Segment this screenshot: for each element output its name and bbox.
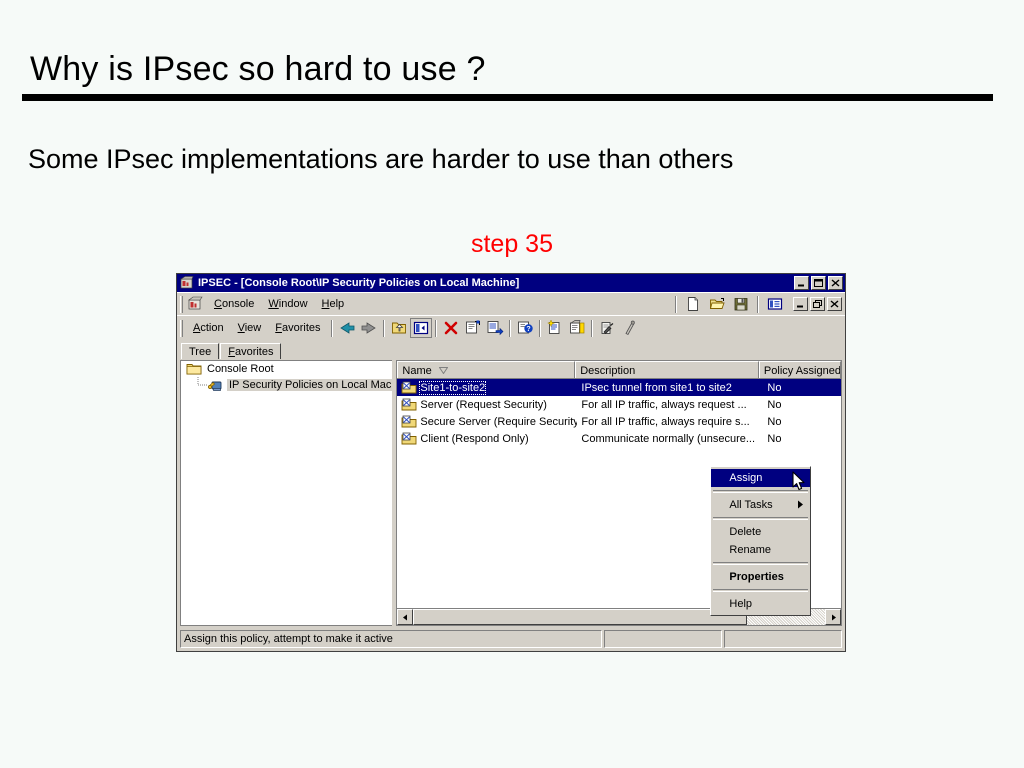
export-list-icon[interactable] — [484, 318, 506, 338]
sort-ascending-icon — [439, 365, 448, 377]
toolbar-sep-d — [509, 320, 511, 337]
cell-policy-assigned: No — [763, 433, 841, 445]
mdi-caption-buttons — [793, 297, 842, 311]
manage-lists-icon[interactable] — [566, 318, 588, 338]
cell-name-text: Site1-to-site2 — [420, 382, 485, 394]
console-small-icon — [187, 296, 203, 312]
mdi-restore-button[interactable] — [810, 297, 825, 311]
chevron-right-icon — [797, 500, 804, 511]
console-toolbar — [672, 294, 845, 314]
context-menu-item-help[interactable]: Help — [711, 595, 810, 613]
cell-name-text: Client (Respond Only) — [420, 433, 528, 445]
context-menu-separator — [713, 517, 808, 520]
scroll-right-icon[interactable] — [825, 609, 841, 625]
toolbar-sep-b — [383, 320, 385, 337]
cell-name: Client (Respond Only) — [397, 431, 577, 447]
menu-window[interactable]: Window — [261, 296, 314, 312]
tree-node-ipsec-policies[interactable]: IP Security Policies on Local Machine — [181, 377, 392, 393]
table-row[interactable]: Secure Server (Require Security) For all… — [397, 413, 841, 430]
properties-icon[interactable] — [462, 318, 484, 338]
action-toolbar: Action View Favorites — [177, 315, 845, 340]
toolbar-sep-c — [435, 320, 437, 337]
menu-help[interactable]: Help — [315, 296, 352, 312]
mmc-console-icon — [180, 276, 194, 290]
toolbar-separator-2 — [757, 296, 759, 313]
cell-name-text: Secure Server (Require Security) — [420, 416, 577, 428]
menu-view[interactable]: View — [231, 320, 269, 336]
ipsec-policy-icon — [401, 380, 417, 396]
context-menu-item-delete[interactable]: Delete — [711, 523, 810, 541]
scrollbar-thumb[interactable] — [413, 609, 746, 625]
cell-name-text: Server (Request Security) — [420, 399, 547, 411]
slide-subtitle: Some IPsec implementations are harder to… — [28, 144, 733, 175]
cell-description: For all IP traffic, always request ... — [577, 399, 763, 411]
window-caption-buttons — [794, 276, 843, 290]
status-cell-3 — [724, 630, 842, 648]
policy-check-icon[interactable] — [596, 318, 618, 338]
menu-action[interactable]: Action — [186, 320, 231, 336]
console-panes: Console Root IP Security Policies — [180, 360, 842, 626]
ipsec-policy-icon — [401, 397, 417, 413]
column-label: Policy Assigned — [764, 365, 841, 377]
cell-description: IPsec tunnel from site1 to site2 — [577, 382, 763, 394]
toolbar-grip[interactable] — [180, 320, 183, 337]
mmc-console-window: IPSEC - [Console Root\IP Security Polici… — [176, 273, 846, 652]
context-menu-separator — [713, 589, 808, 592]
cell-policy-assigned: No — [763, 399, 841, 411]
table-row[interactable]: Server (Request Security) For all IP tra… — [397, 396, 841, 413]
cell-name: Server (Request Security) — [397, 397, 577, 413]
policy-list-pane[interactable]: Name Description Policy Assigned — [396, 360, 842, 626]
svg-text:?: ? — [526, 326, 530, 333]
open-folder-icon[interactable] — [706, 294, 728, 314]
restore-defaults-icon[interactable] — [618, 318, 640, 338]
column-label: Name — [402, 365, 431, 377]
forward-arrow-icon[interactable] — [358, 318, 380, 338]
page-title: Why is IPsec so hard to use ? — [30, 50, 486, 89]
status-bar: Assign this policy, attempt to make it a… — [180, 630, 842, 648]
tree-connector-icon — [197, 377, 208, 393]
list-header: Name Description Policy Assigned — [397, 361, 841, 379]
close-button[interactable] — [828, 276, 843, 290]
mdi-close-button[interactable] — [827, 297, 842, 311]
cell-policy-assigned: No — [763, 416, 841, 428]
status-message: Assign this policy, attempt to make it a… — [180, 630, 602, 648]
pane-tabs: Tree Favorites — [177, 340, 845, 359]
ipsec-policy-icon — [401, 431, 417, 447]
column-header-description[interactable]: Description — [575, 361, 759, 378]
toolbar-sep-e — [539, 320, 541, 337]
tree-node-label: Console Root — [205, 363, 276, 375]
cell-name: Site1-to-site2 — [397, 380, 577, 396]
menu-console[interactable]: Console — [207, 296, 261, 312]
cell-description: For all IP traffic, always require s... — [577, 416, 763, 428]
console-tree-pane[interactable]: Console Root IP Security Policies — [180, 360, 392, 626]
help-question-icon[interactable]: ? — [514, 318, 536, 338]
back-arrow-icon[interactable] — [336, 318, 358, 338]
tree-node-console-root[interactable]: Console Root — [181, 361, 392, 377]
column-header-policy-assigned[interactable]: Policy Assigned — [759, 361, 841, 378]
title-divider — [22, 94, 993, 101]
context-menu-item-all-tasks[interactable]: All Tasks — [711, 496, 810, 514]
tree-node-label: IP Security Policies on Local Machine — [227, 379, 392, 391]
new-policy-icon[interactable] — [544, 318, 566, 338]
toolbar-sep-f — [591, 320, 593, 337]
column-label: Description — [580, 365, 635, 377]
red-x-icon[interactable] — [440, 318, 462, 338]
cell-name: Secure Server (Require Security) — [397, 414, 577, 430]
list-rows: Site1-to-site2 IPsec tunnel from site1 t… — [397, 379, 841, 447]
menu-favorites[interactable]: Favorites — [268, 320, 327, 336]
status-cell-2 — [604, 630, 722, 648]
cell-policy-assigned: No — [763, 382, 841, 394]
toolbar-separator — [675, 296, 677, 313]
ipsec-snapin-icon — [208, 377, 224, 393]
context-menu-item-properties[interactable]: Properties — [711, 568, 810, 586]
step-label: step 35 — [0, 230, 1024, 259]
cell-description: Communicate normally (unsecure... — [577, 433, 763, 445]
window-titlebar: IPSEC - [Console Root\IP Security Polici… — [177, 274, 845, 292]
menu-bar: Console Window Help — [177, 292, 845, 315]
new-document-icon[interactable] — [682, 294, 704, 314]
floppy-save-icon[interactable] — [730, 294, 752, 314]
context-menu-item-rename[interactable]: Rename — [711, 541, 810, 559]
ipsec-policy-icon — [401, 414, 417, 430]
show-tree-icon[interactable] — [410, 318, 432, 338]
folder-icon — [186, 361, 202, 377]
tree-pane-icon[interactable] — [764, 294, 786, 314]
context-menu-item-label: All Tasks — [729, 499, 772, 511]
tab-favorites[interactable]: Favorites — [220, 343, 281, 359]
up-folder-icon[interactable] — [388, 318, 410, 338]
context-menu: Assign All Tasks Delete Rename Propertie… — [710, 466, 811, 616]
window-title: IPSEC - [Console Root\IP Security Polici… — [198, 277, 794, 289]
table-row[interactable]: Client (Respond Only) Communicate normal… — [397, 430, 841, 447]
minimize-button[interactable] — [794, 276, 809, 290]
mdi-minimize-button[interactable] — [793, 297, 808, 311]
context-menu-separator — [713, 562, 808, 565]
context-menu-separator — [713, 490, 808, 493]
toolbar-sep-a — [331, 320, 333, 337]
tab-tree[interactable]: Tree — [181, 343, 219, 359]
column-header-name[interactable]: Name — [397, 361, 575, 378]
menubar-grip[interactable] — [180, 296, 183, 313]
table-row[interactable]: Site1-to-site2 IPsec tunnel from site1 t… — [397, 379, 841, 396]
context-menu-item-assign[interactable]: Assign — [711, 469, 810, 487]
maximize-button[interactable] — [811, 276, 826, 290]
scroll-left-icon[interactable] — [397, 609, 413, 625]
